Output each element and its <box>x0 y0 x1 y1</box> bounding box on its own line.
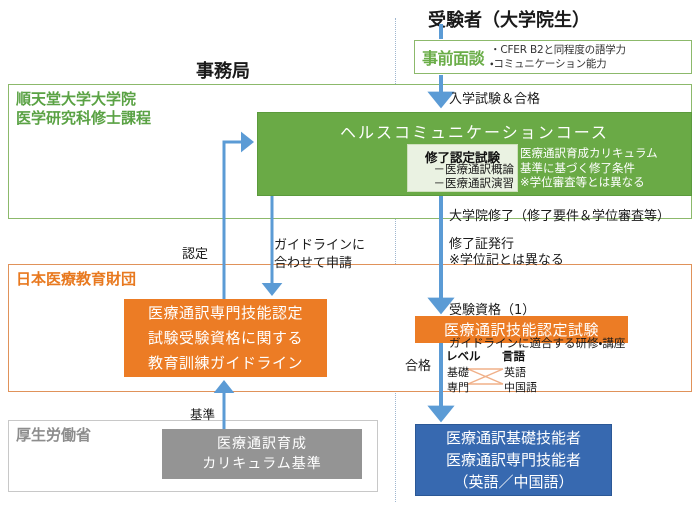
training-guideline-box: 医療通訳専門技能認定 試験受験資格に関する 教育訓練ガイドライン <box>124 299 327 377</box>
annotation-entrance-exam: 入学試験＆合格 <box>449 88 540 107</box>
interview-box: 事前面談 ・CFER B2と同程度の語学力 ・コミュニケーション能力 <box>414 40 692 74</box>
diagram-canvas: 受験者（大学院生） 事務局 順天堂大学大学院 医学研究科修士課程 日本医療教育財… <box>0 0 700 508</box>
annotation-certificate: 修了証発行 ※学位記とは異なる <box>449 237 564 269</box>
interview-label: 事前面談 <box>415 45 490 69</box>
qualification-result-text: 医療通訳基礎技能者 医療通訳専門技能者 （英語／中国語） <box>446 427 581 493</box>
annotation-apply-by-guideline: ガイドラインに 合わせて申請 <box>274 237 365 273</box>
training-guideline-text: 医療通訳専門技能認定 試験受験資格に関する 教育訓練ガイドライン <box>148 301 303 376</box>
annotation-pass: 合格 <box>405 355 431 374</box>
annotation-standard: 基準 <box>190 404 215 423</box>
language-cell-chinese: 中国語 <box>504 379 537 395</box>
mhlw-curriculum-standard-text: 医療通訳育成 カリキュラム基準 <box>202 434 322 474</box>
completion-exam-box: 修了認定試験 －医療通訳概論 －医療通訳演習 <box>407 144 518 192</box>
level-language-table: レベル 言語 基礎 英語 専門 中国語 <box>446 348 564 394</box>
language-cell-english: 英語 <box>504 364 526 380</box>
arrow-guideline-to-course <box>224 142 251 300</box>
course-note: 医療通訳育成カリキュラム 基準に基づく修了条件 ※学位審査等とは異なる <box>520 146 658 190</box>
level-cell-basic: 基礎 <box>447 364 469 380</box>
mhlw-curriculum-standard-box: 医療通訳育成 カリキュラム基準 <box>162 429 362 479</box>
annotation-eligibility: 受験資格（1） ガイドラインに適合する研修・講座 <box>449 287 625 352</box>
course-title: ヘルスコミュニケーションコース <box>258 119 691 143</box>
health-communication-course-box: ヘルスコミュニケーションコース 修了認定試験 －医療通訳概論 －医療通訳演習 医… <box>257 112 692 196</box>
annotation-eligibility-sub: ガイドラインに適合する研修・講座 <box>449 336 625 350</box>
annotation-eligibility-title: 受験資格（1） <box>449 303 535 318</box>
annotation-recognition: 認定 <box>182 243 208 262</box>
annotation-graduation: 大学院修了（修了要件＆学位審査等） <box>449 205 670 224</box>
qualification-result-box: 医療通訳基礎技能者 医療通訳専門技能者 （英語／中国語） <box>415 424 612 496</box>
interview-bullets: ・CFER B2と同程度の語学力 ・コミュニケーション能力 <box>490 43 626 71</box>
level-cell-professional: 専門 <box>447 379 469 395</box>
completion-exam-items: －医療通訳概論 －医療通訳演習 <box>408 162 514 190</box>
